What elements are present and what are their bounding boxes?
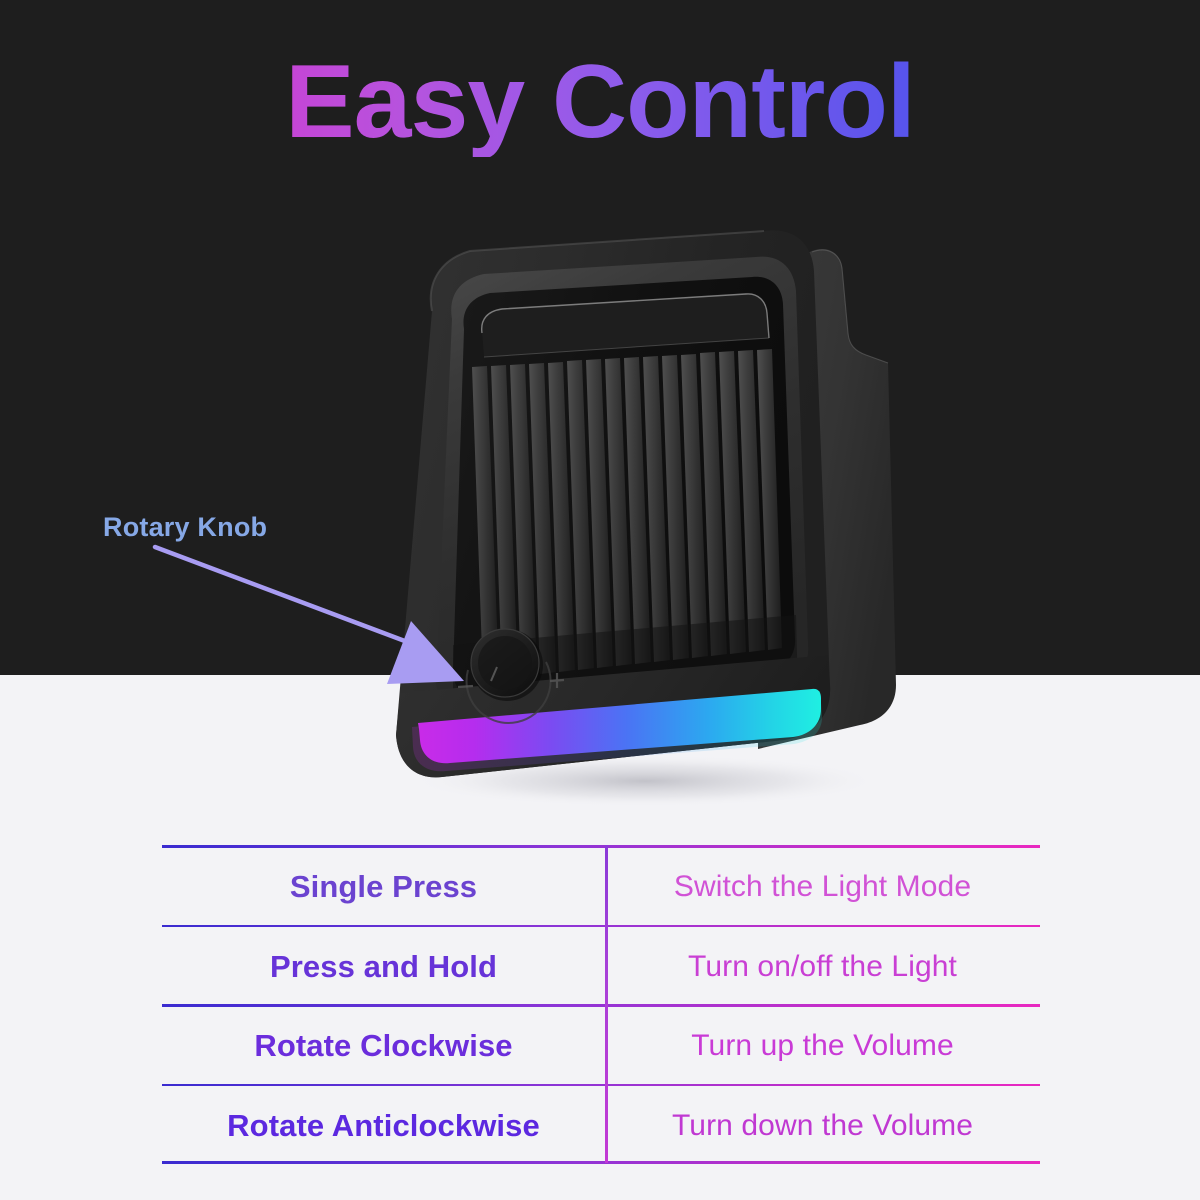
table-cell-action: Press and Hold [162,927,605,1007]
table-cell-action: Single Press [162,848,605,928]
product-feature-page: Easy Control [0,0,1200,1200]
table-row: Rotate Anticlockwise Turn down the Volum… [162,1086,1040,1166]
table-cell-action: Rotate Anticlockwise [162,1086,605,1166]
table-cell-action: Rotate Clockwise [162,1007,605,1087]
table-cell-result: Turn down the Volume [605,1086,1040,1166]
table-cell-result: Turn up the Volume [605,1007,1040,1087]
table-row: Single Press Switch the Light Mode [162,848,1040,928]
callout-arrow [150,540,490,690]
callout-label-rotary-knob: Rotary Knob [103,512,267,543]
table-row: Rotate Clockwise Turn up the Volume [162,1007,1040,1087]
table-vertical-divider [605,845,608,1163]
table-cell-result: Turn on/off the Light [605,927,1040,1007]
product-image-speaker [360,215,920,800]
table-divider-bottom [162,1161,1040,1164]
table-cell-result: Switch the Light Mode [605,848,1040,928]
control-actions-table: Single Press Switch the Light Mode Press… [162,845,1040,1163]
callout-arrow-head [387,621,464,684]
callout-arrow-line [155,547,434,652]
page-title: Easy Control [0,48,1200,157]
table-row: Press and Hold Turn on/off the Light [162,927,1040,1007]
